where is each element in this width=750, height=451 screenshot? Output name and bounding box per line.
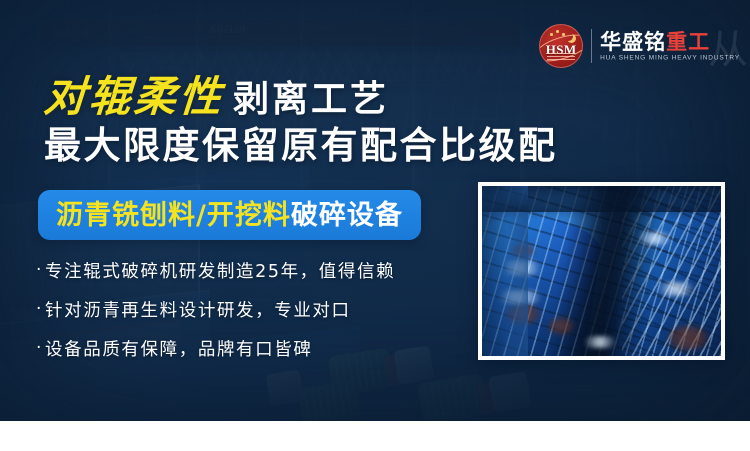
logo-name-cn-red: 重工: [666, 30, 710, 54]
logo-name-cn-white: 华盛铭: [600, 30, 666, 54]
promotional-banner: 河南矿山 50/10t 从 HSM 华盛铭重: [0, 0, 750, 421]
logo-name-en: HUA SHENG MING HEAVY INDUSTRY: [600, 54, 740, 61]
rust-patch: [548, 318, 574, 334]
wear-highlight: [578, 336, 622, 348]
wear-highlight: [632, 232, 678, 245]
pill-equipment-text: 破碎设备: [291, 202, 403, 229]
logo-name-cn: 华盛铭重工: [600, 31, 740, 53]
product-photo: [478, 182, 725, 360]
headline-rest: 剥离工艺: [233, 82, 389, 118]
list-item-label: 针对沥青再生料设计研发，专业对口: [45, 297, 351, 322]
bullet-dot-icon: ·: [36, 301, 43, 318]
wave-lines-icon: [547, 53, 575, 60]
company-logo[interactable]: HSM 华盛铭重工 HUA SHENG MING HEAVY INDUSTRY: [539, 24, 744, 68]
headline-line-1: 对辊柔性 剥离工艺: [44, 76, 389, 118]
bullet-dot-icon: ·: [36, 262, 43, 279]
machine-housing-left: [482, 186, 508, 356]
list-item: · 设备品质有保障，品牌有口皆碑: [36, 336, 395, 361]
star-icon: [550, 33, 553, 36]
bullet-dot-icon: ·: [36, 340, 43, 357]
rust-patch: [668, 326, 708, 350]
product-category-pill: 沥青铣刨料/开挖料 破碎设备: [38, 190, 421, 240]
list-item: · 专注辊式破碎机研发制造25年，值得信赖: [36, 258, 395, 283]
pill-material-text: 沥青铣刨料/开挖料: [56, 202, 291, 229]
hsm-emblem-icon: HSM: [539, 24, 583, 68]
machine-housing-bottom: [482, 186, 721, 212]
list-item: · 针对沥青再生料设计研发，专业对口: [36, 297, 395, 322]
logo-wordmark: 华盛铭重工 HUA SHENG MING HEAVY INDUSTRY: [600, 31, 744, 61]
logo-divider: [591, 29, 592, 63]
headline-line-2: 最大限度保留原有配合比级配: [44, 124, 558, 168]
wear-highlight: [650, 282, 702, 296]
list-item-label: 设备品质有保障，品牌有口皆碑: [45, 336, 312, 361]
star-icon: [556, 30, 559, 33]
headline-highlight: 对辊柔性: [43, 76, 226, 118]
list-item-label: 专注辊式破碎机研发制造25年，值得信赖: [45, 258, 395, 283]
selling-points-list: · 专注辊式破碎机研发制造25年，值得信赖 · 针对沥青再生料设计研发，专业对口…: [36, 258, 395, 361]
